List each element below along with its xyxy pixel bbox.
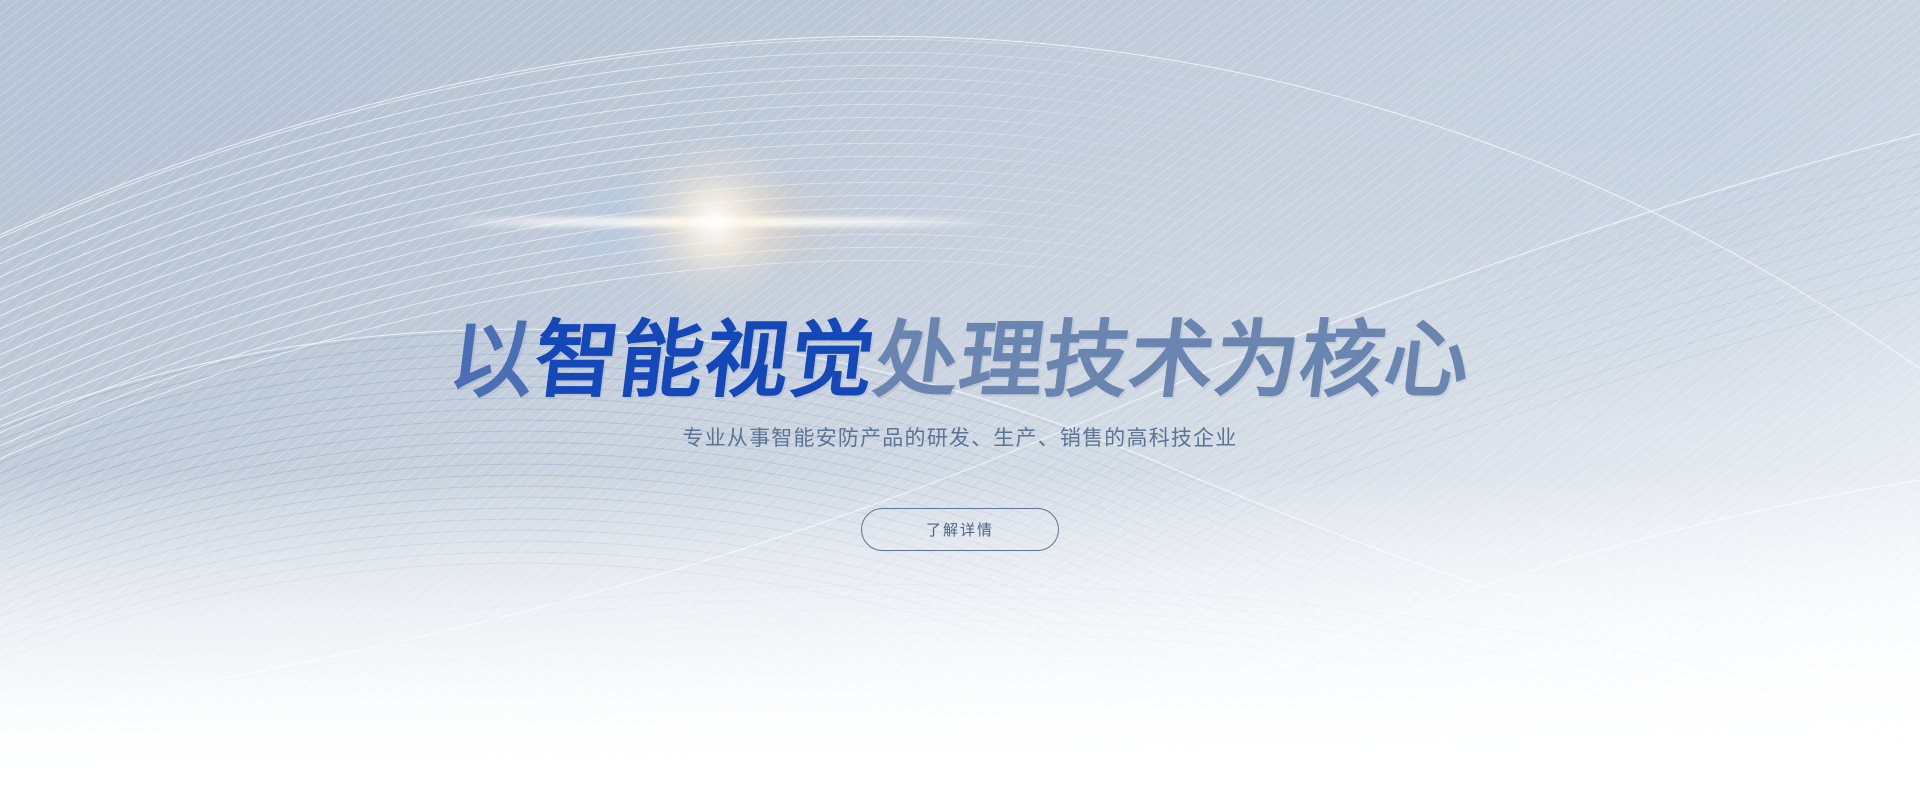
hero-headline: 以智能视觉处理技术为核心 (0, 318, 1920, 402)
learn-more-button[interactable]: 了解详情 (861, 508, 1059, 551)
hero-banner: 以智能视觉处理技术为核心 专业从事智能安防产品的研发、生产、销售的高科技企业 了… (0, 0, 1920, 800)
hero-content: 以智能视觉处理技术为核心 专业从事智能安防产品的研发、生产、销售的高科技企业 了… (0, 0, 1920, 800)
hero-subtitle: 专业从事智能安防产品的研发、生产、销售的高科技企业 (0, 422, 1920, 452)
headline-segment-3: 处理技术为核心 (869, 311, 1476, 409)
headline-segment-2: 智能视觉 (529, 311, 881, 409)
headline-segment-1: 以 (444, 311, 541, 409)
hero-cta-container: 了解详情 (0, 508, 1920, 551)
